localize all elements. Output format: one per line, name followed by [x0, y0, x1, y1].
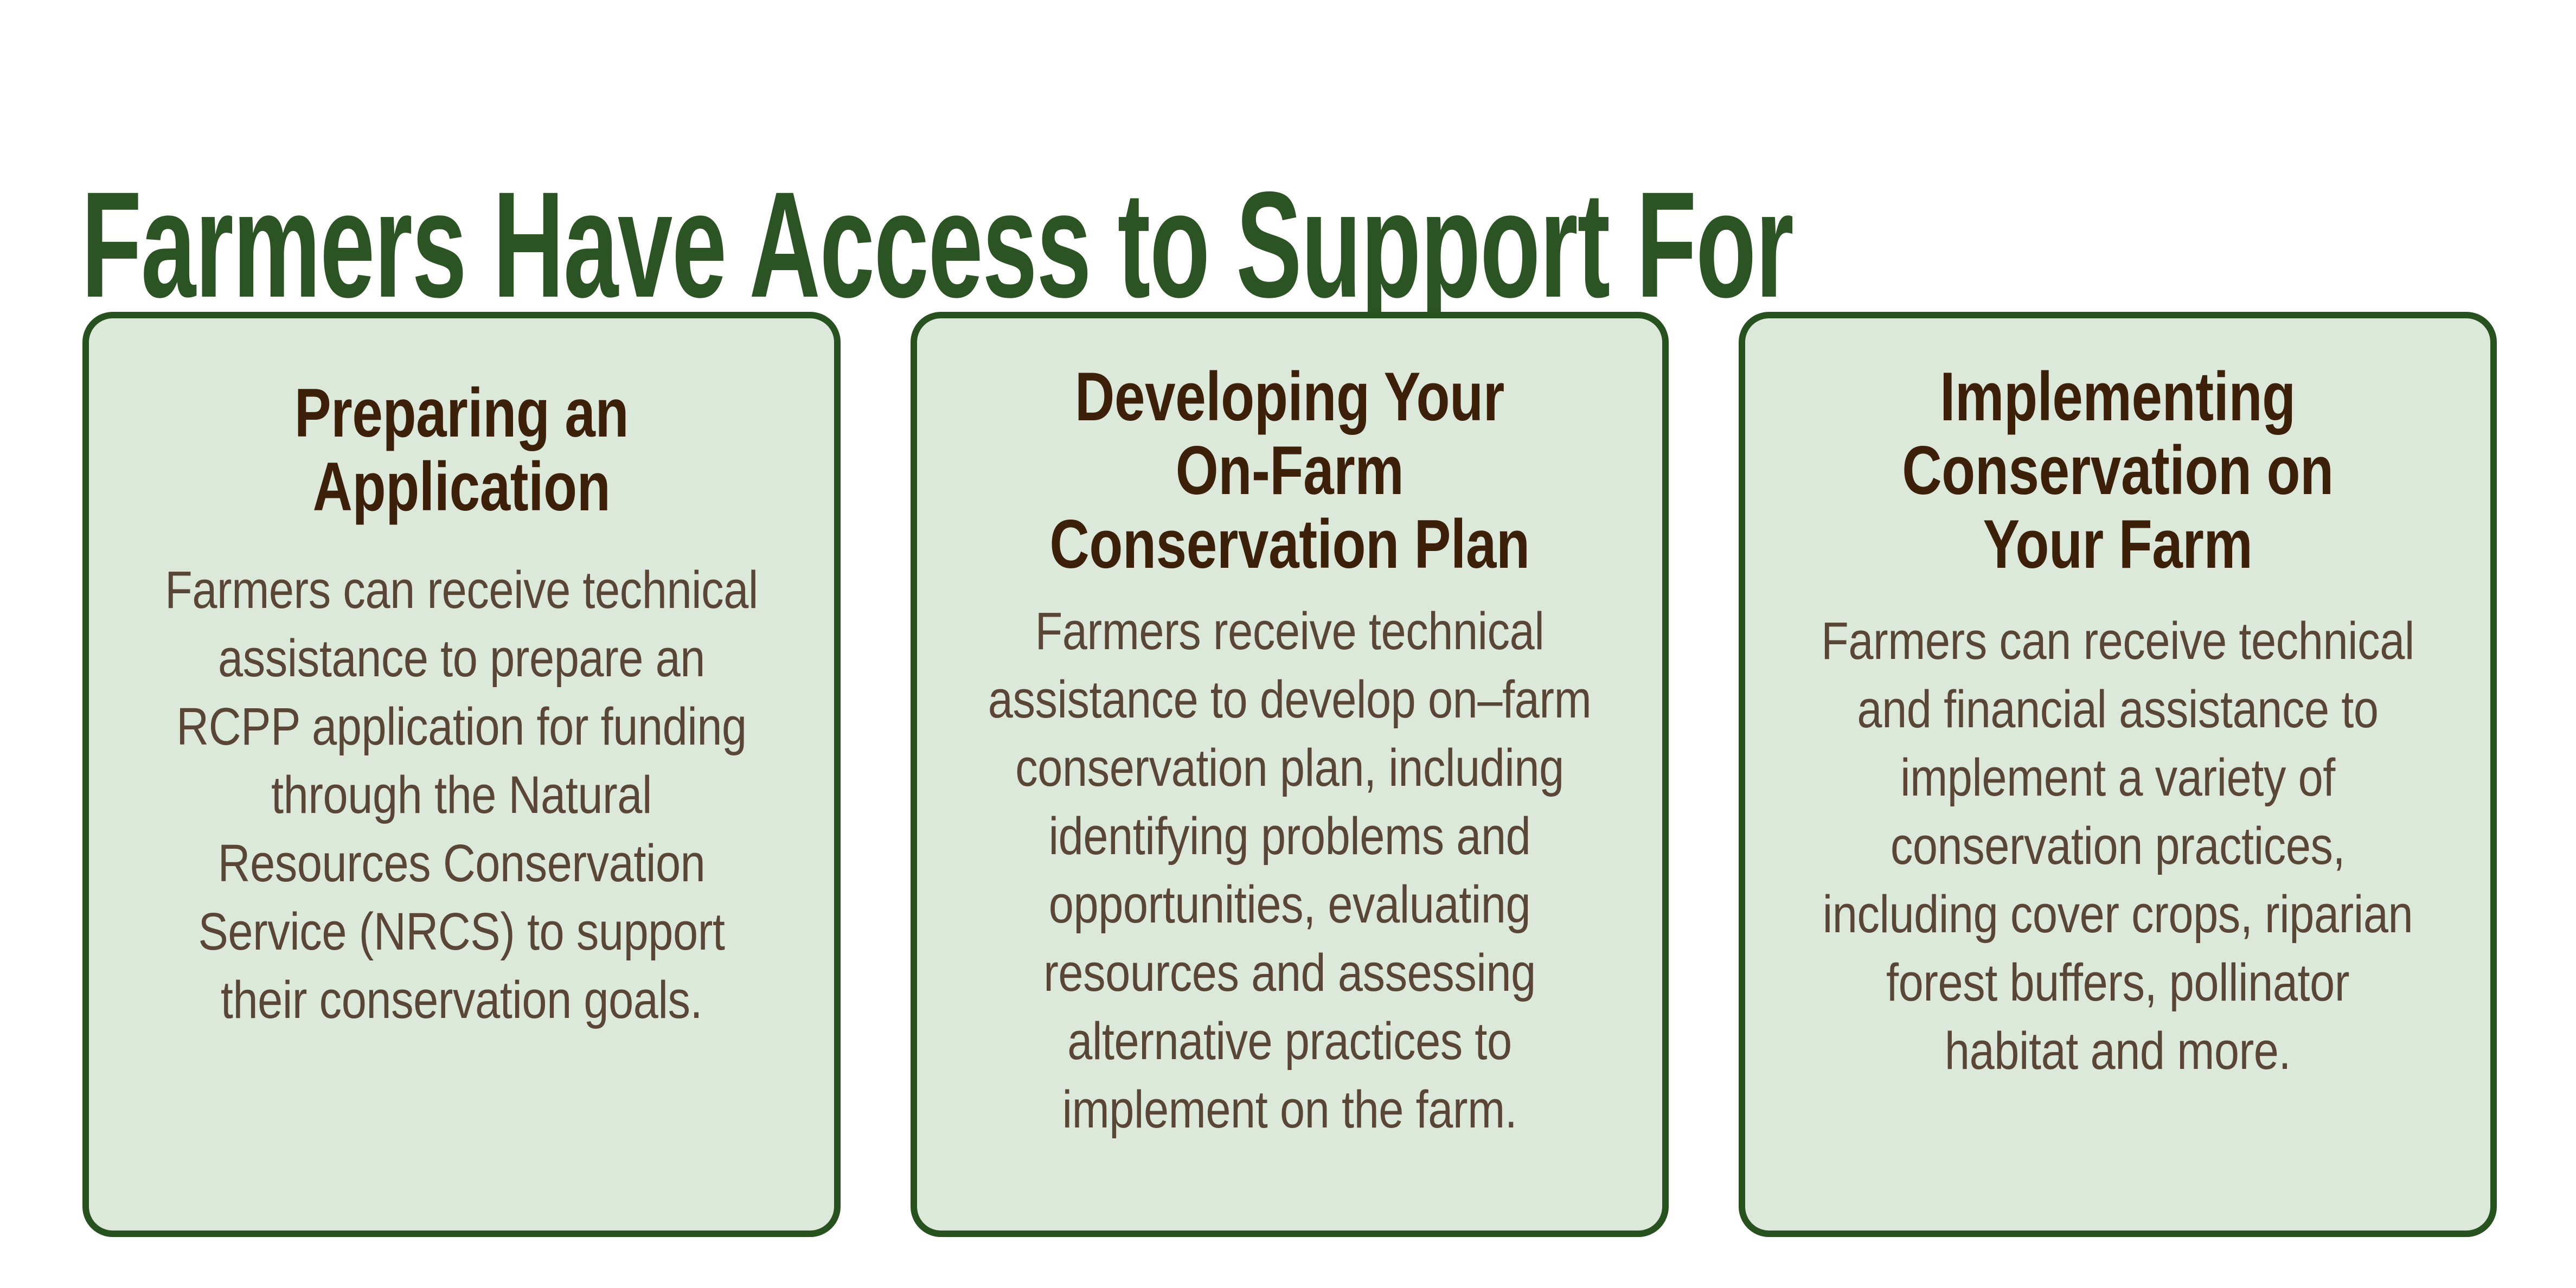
support-card-implementing-conservation[interactable]: Implementing Conservation on Your Farm F… — [1739, 312, 2497, 1237]
infographic-page: Farmers Have Access to Support For Prepa… — [0, 0, 2576, 1288]
support-cards-row: Preparing an Application Farmers can rec… — [82, 312, 2497, 1237]
card-heading: Preparing an Application — [163, 318, 759, 523]
card-body-text: Farmers can receive technical and financ… — [1799, 581, 2437, 1085]
support-card-preparing-an-application[interactable]: Preparing an Application Farmers can rec… — [82, 312, 841, 1237]
card-body-text: Farmers can receive technical assistance… — [143, 523, 780, 1034]
card-heading: Developing Your On-Farm Conservation Pla… — [991, 318, 1587, 581]
support-card-developing-conservation-plan[interactable]: Developing Your On-Farm Conservation Pla… — [911, 312, 1669, 1237]
card-heading: Implementing Conservation on Your Farm — [1819, 318, 2415, 581]
page-title: Farmers Have Access to Support For — [81, 166, 2501, 329]
card-body-text: Farmers receive technical assistance to … — [971, 581, 1609, 1144]
